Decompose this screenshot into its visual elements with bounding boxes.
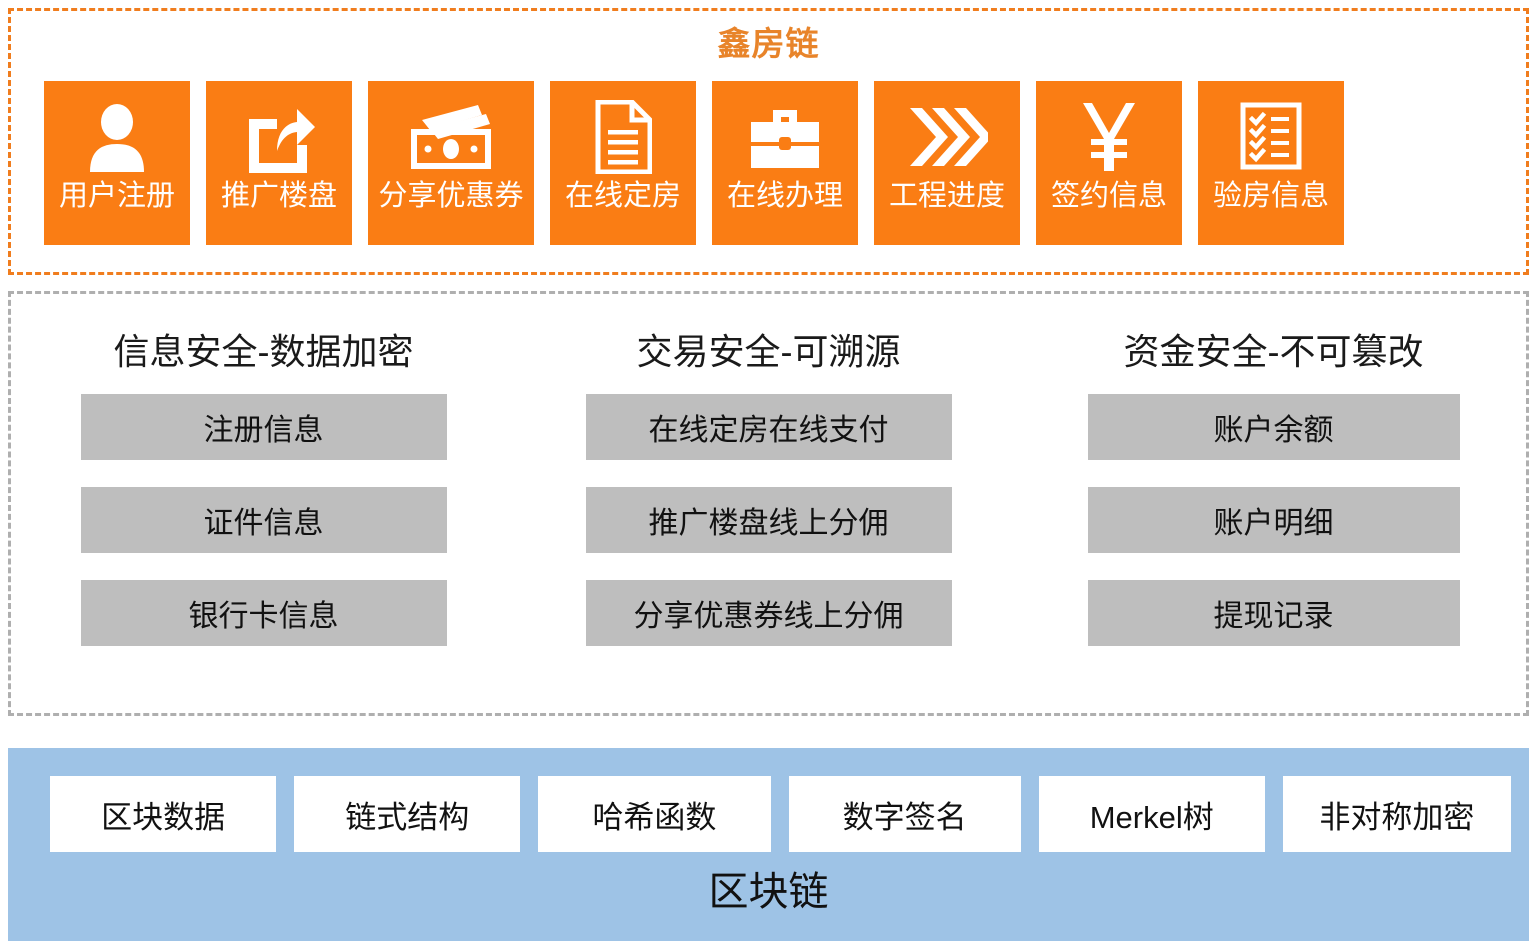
feature-tile-label: 签约信息 [1051, 181, 1167, 211]
feature-tile-contract-info[interactable]: 签约信息 [1036, 81, 1182, 245]
feature-tile-inspection-info[interactable]: 验房信息 [1198, 81, 1344, 245]
banknote-icon [368, 95, 534, 179]
security-column-info: 信息安全-数据加密 注册信息 证件信息 银行卡信息 [11, 294, 516, 713]
page-title: 鑫房链 [11, 27, 1526, 60]
security-item[interactable]: 账户明细 [1088, 487, 1460, 553]
security-column-funds: 资金安全-不可篡改 账户余额 账户明细 提现记录 [1021, 294, 1526, 713]
security-item[interactable]: 推广楼盘线上分佣 [586, 487, 952, 553]
security-item[interactable]: 证件信息 [81, 487, 447, 553]
feature-tile-label: 在线办理 [727, 181, 843, 211]
feature-tile-label: 验房信息 [1213, 181, 1329, 211]
blockchain-component[interactable]: 链式结构 [294, 776, 520, 852]
blockchain-section: 区块数据 链式结构 哈希函数 数字签名 Merkel树 非对称加密 区块链 [8, 748, 1529, 941]
feature-tile-project-progress[interactable]: 工程进度 [874, 81, 1020, 245]
briefcase-icon [712, 95, 858, 179]
column-heading: 资金安全-不可篡改 [1124, 332, 1424, 372]
blockchain-component[interactable]: 非对称加密 [1283, 776, 1511, 852]
chevrons-right-icon [874, 95, 1020, 179]
blockchain-caption: 区块链 [8, 870, 1529, 914]
share-icon [206, 95, 352, 179]
security-section: 信息安全-数据加密 注册信息 证件信息 银行卡信息 交易安全-可溯源 在线定房在… [8, 291, 1529, 716]
column-heading: 交易安全-可溯源 [637, 332, 901, 372]
yen-icon [1036, 95, 1182, 179]
security-item[interactable]: 账户余额 [1088, 394, 1460, 460]
security-item[interactable]: 分享优惠券线上分佣 [586, 580, 952, 646]
platform-section: 鑫房链 用户注册 推广楼盘 [8, 8, 1529, 275]
security-item[interactable]: 在线定房在线支付 [586, 394, 952, 460]
feature-tile-user-register[interactable]: 用户注册 [44, 81, 190, 245]
feature-tile-share-coupon[interactable]: 分享优惠券 [368, 81, 534, 245]
blockchain-component[interactable]: Merkel树 [1039, 776, 1265, 852]
blockchain-component-row: 区块数据 链式结构 哈希函数 数字签名 Merkel树 非对称加密 [8, 776, 1529, 852]
document-icon [550, 95, 696, 179]
security-item[interactable]: 银行卡信息 [81, 580, 447, 646]
feature-tile-label: 工程进度 [889, 181, 1005, 211]
checklist-icon [1198, 95, 1344, 179]
feature-tile-promote-property[interactable]: 推广楼盘 [206, 81, 352, 245]
feature-tile-label: 推广楼盘 [221, 181, 337, 211]
feature-tile-label: 在线定房 [565, 181, 681, 211]
feature-tile-label: 分享优惠券 [378, 181, 523, 211]
blockchain-component[interactable]: 区块数据 [50, 776, 276, 852]
feature-tile-online-process[interactable]: 在线办理 [712, 81, 858, 245]
security-item[interactable]: 注册信息 [81, 394, 447, 460]
blockchain-component[interactable]: 哈希函数 [538, 776, 770, 852]
column-heading: 信息安全-数据加密 [114, 332, 414, 372]
feature-tile-row: 用户注册 推广楼盘 分享优惠 [11, 81, 1526, 245]
security-column-transaction: 交易安全-可溯源 在线定房在线支付 推广楼盘线上分佣 分享优惠券线上分佣 [516, 294, 1021, 713]
user-icon [44, 95, 190, 179]
feature-tile-online-booking[interactable]: 在线定房 [550, 81, 696, 245]
security-item[interactable]: 提现记录 [1088, 580, 1460, 646]
feature-tile-label: 用户注册 [59, 181, 175, 211]
blockchain-component[interactable]: 数字签名 [789, 776, 1021, 852]
